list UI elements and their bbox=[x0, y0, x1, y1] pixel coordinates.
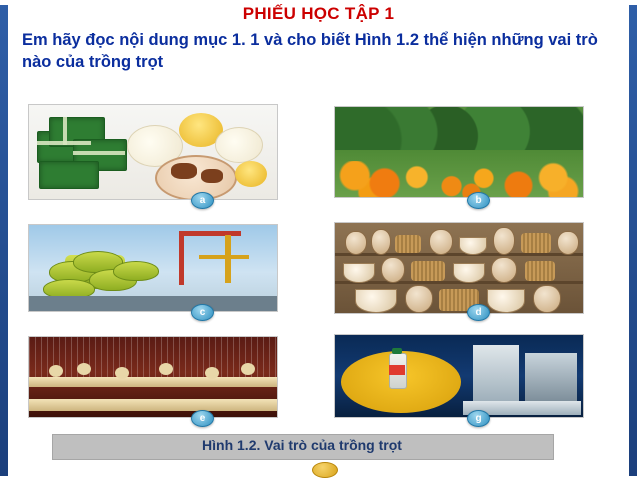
slide-canvas: PHIẾU HỌC TẬP 1 Em hãy đọc nội dung mục … bbox=[0, 0, 637, 476]
slide-right-accent-band bbox=[629, 0, 637, 476]
figure-caption: Hình 1.2. Vai trò của trồng trọt bbox=[52, 437, 552, 453]
figure-label-b: b bbox=[467, 192, 490, 209]
figure-label-g: g bbox=[467, 410, 490, 427]
figure-label-e: e bbox=[191, 410, 214, 427]
figure-d-artwork bbox=[335, 223, 583, 313]
figure-c-artwork bbox=[29, 225, 277, 311]
question-text: Em hãy đọc nội dung mục 1. 1 và cho biết… bbox=[22, 30, 612, 74]
figure-grid: a b c d e g bbox=[24, 104, 608, 434]
figure-image-a bbox=[28, 104, 278, 200]
figure-b-artwork bbox=[335, 107, 583, 197]
figure-image-d bbox=[334, 222, 584, 314]
figure-a-artwork bbox=[29, 105, 277, 199]
page-title: PHIẾU HỌC TẬP 1 bbox=[0, 4, 637, 24]
figure-label-c: c bbox=[191, 304, 214, 321]
figure-label-d: d bbox=[467, 304, 490, 321]
slide-left-accent-band bbox=[0, 0, 8, 476]
figure-e-artwork bbox=[29, 337, 277, 417]
figure-label-a: a bbox=[191, 192, 214, 209]
figure-image-c bbox=[28, 224, 278, 312]
figure-image-b bbox=[334, 106, 584, 198]
figure-image-g bbox=[334, 334, 584, 418]
figure-g-artwork bbox=[335, 335, 583, 417]
figure-image-e bbox=[28, 336, 278, 418]
